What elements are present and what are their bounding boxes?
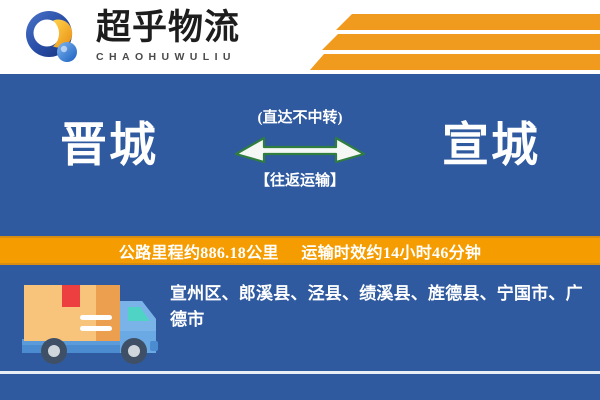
origin-city: 晋城	[60, 118, 158, 174]
route-middle: (直达不中转) 【往返运输】	[225, 108, 375, 191]
company-logo-icon	[24, 9, 81, 66]
roundtrip-note: 【往返运输】	[225, 171, 375, 191]
direct-shipping-note: (直达不中转)	[225, 108, 375, 128]
distance-info: 公路里程约886.18公里 运输时效约14小时46分钟	[119, 239, 481, 263]
delivery-truck-icon	[18, 279, 160, 371]
speed-stripes-icon	[310, 0, 600, 74]
road-line	[0, 371, 600, 374]
mileage-text: 公路里程约886.18公里	[119, 245, 279, 262]
double-arrow-icon	[234, 132, 366, 168]
distance-bar: 公路里程约886.18公里 运输时效约14小时46分钟	[0, 236, 600, 265]
logistics-route-poster: 超乎物流 CHAOHUWULIU 晋城 (直达不中转) 【往返运输】 宣城	[0, 0, 600, 400]
duration-text: 运输时效约14小时46分钟	[301, 245, 481, 262]
coverage-area-list: 宣州区、郎溪县、泾县、绩溪县、旌德县、宁国市、广德市	[170, 281, 584, 333]
brand-block: 超乎物流 CHAOHUWULIU	[96, 8, 296, 63]
header: 超乎物流 CHAOHUWULIU	[0, 0, 600, 74]
brand-name-en: CHAOHUWULIU	[96, 51, 296, 63]
destination-city: 宣城	[442, 118, 540, 174]
route-band: 晋城 (直达不中转) 【往返运输】 宣城	[0, 74, 600, 236]
brand-name-cn: 超乎物流	[96, 8, 296, 48]
footer: 宣州区、郎溪县、泾县、绩溪县、旌德县、宁国市、广德市	[0, 265, 600, 400]
